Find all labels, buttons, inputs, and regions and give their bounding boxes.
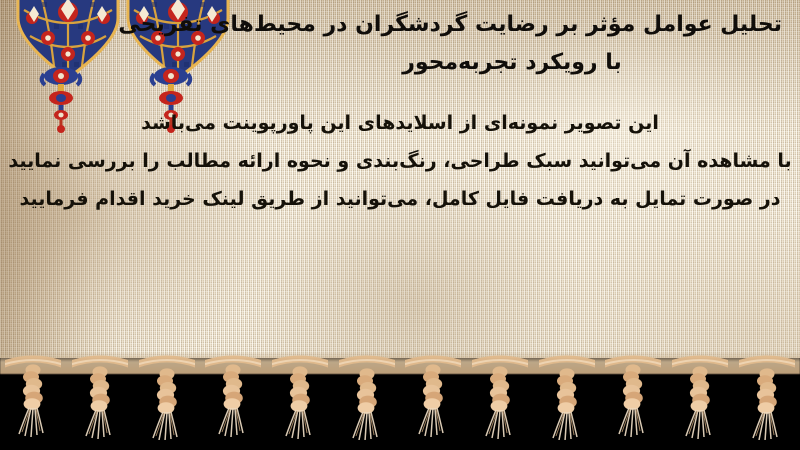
tassel-icon [139,354,195,440]
tassel-icon [5,354,61,440]
carpet-fringe [0,358,800,450]
slide-title: تحلیل عوامل مؤثر بر رضایت گردشگران در مح… [182,6,782,82]
tassel-icon [539,354,595,440]
tassel-icon [472,354,528,440]
tassel-icon [205,354,261,440]
tassel-icon [739,354,795,440]
tassel-icon [339,354,395,440]
tassel-icon [72,354,128,440]
tassel-icon [405,354,461,440]
slide-body-line-1: این تصویر نمونه‌ای از اسلایدهای این پاور… [0,104,800,142]
slide-body-line-2: با مشاهده آن می‌توانید سبک طراحی، رنگ‌بن… [0,142,800,180]
tassel-icon [672,354,728,440]
tassel-icon [605,354,661,440]
slide-canvas: تحلیل عوامل مؤثر بر رضایت گردشگران در مح… [0,0,800,450]
slide-title-line-1: تحلیل عوامل مؤثر بر رضایت گردشگران در مح… [182,6,782,44]
slide-title-line-2: با رویکرد تجربه‌محور [182,44,800,82]
tassel-icon [272,354,328,440]
slide-body: این تصویر نمونه‌ای از اسلایدهای این پاور… [0,104,800,218]
slide-body-line-3: در صورت تمایل به دریافت فایل کامل، می‌تو… [0,180,800,218]
